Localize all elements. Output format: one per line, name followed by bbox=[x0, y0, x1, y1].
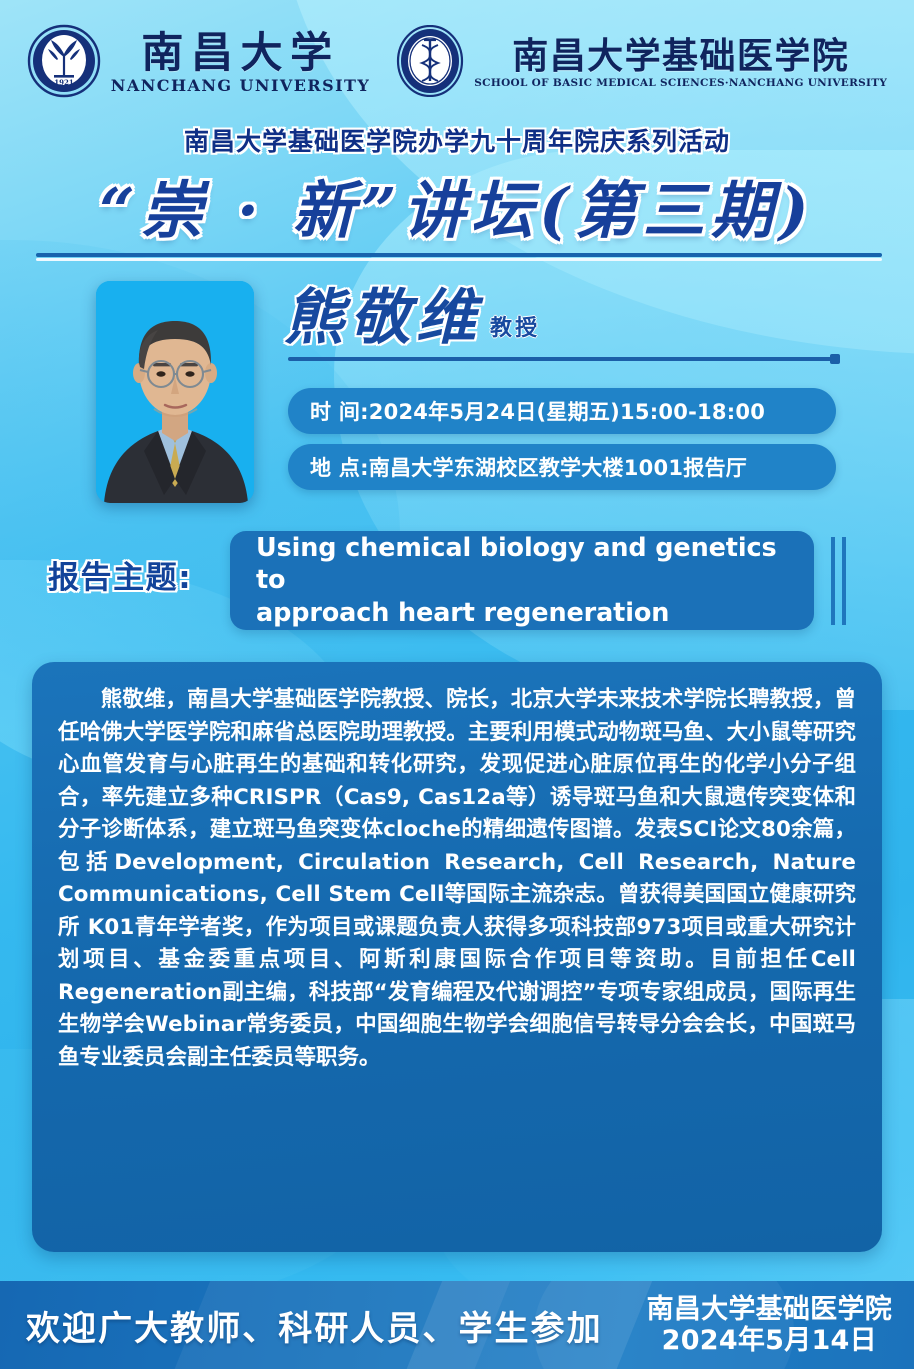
speaker-rank: 教授 bbox=[490, 310, 540, 348]
nanchang-university-seal-icon: 1921 bbox=[27, 24, 101, 102]
logo-en-school: SCHOOL OF BASIC MEDICAL SCIENCES·NANCHAN… bbox=[474, 78, 887, 89]
topic-accent-bar-2 bbox=[842, 537, 846, 625]
poster-root: 1921 南昌大学 NANCHANG UNIVERSITY bbox=[0, 0, 914, 1369]
topic-line-1: Using chemical biology and genetics to bbox=[256, 532, 788, 596]
footer-welcome-text: 欢迎广大教师、科研人员、学生参加 bbox=[26, 1301, 603, 1350]
event-time-text: 时 间:2024年5月24日(星期五)15:00-18:00 bbox=[288, 396, 765, 426]
header-divider bbox=[36, 253, 882, 261]
logo-en-nanchang: NANCHANG UNIVERSITY bbox=[111, 78, 371, 94]
logo-nanchang-university: 1921 南昌大学 NANCHANG UNIVERSITY bbox=[27, 24, 371, 102]
footer-publish-date: 2024年5月14日 bbox=[647, 1325, 892, 1356]
speaker-name-block: 熊敬维 教授 bbox=[284, 288, 540, 348]
logo-cn-nanchang: 南昌大学 bbox=[141, 32, 339, 74]
school-wordmark: 南昌大学基础医学院 SCHOOL OF BASIC MEDICAL SCIENC… bbox=[474, 38, 887, 89]
logo-cn-school: 南昌大学基础医学院 bbox=[512, 38, 849, 74]
footer-organizer-name: 南昌大学基础医学院 bbox=[647, 1294, 892, 1325]
poster-header: 1921 南昌大学 NANCHANG UNIVERSITY bbox=[0, 0, 914, 240]
poster-footer: 欢迎广大教师、科研人员、学生参加 南昌大学基础医学院 2024年5月14日 bbox=[0, 1281, 914, 1369]
topic-accent-bars bbox=[831, 537, 853, 625]
event-time-bar: 时 间:2024年5月24日(星期五)15:00-18:00 bbox=[288, 388, 836, 434]
topic-accent-bar-1 bbox=[831, 537, 835, 625]
logo-school-basic-medical: 南昌大学基础医学院 SCHOOL OF BASIC MEDICAL SCIENC… bbox=[396, 25, 887, 101]
topic-label: 报告主题: bbox=[48, 552, 192, 597]
speaker-name-rule-cap bbox=[830, 354, 840, 364]
footer-organizer-block: 南昌大学基础医学院 2024年5月14日 bbox=[647, 1294, 892, 1357]
topic-box: Using chemical biology and genetics to a… bbox=[230, 531, 814, 630]
speaker-name-rule bbox=[288, 357, 836, 361]
forum-title: “崇 · 新”讲坛(第三期) bbox=[0, 160, 914, 250]
svg-text:1921: 1921 bbox=[54, 78, 74, 87]
divider-line-light bbox=[36, 258, 882, 261]
school-of-basic-medical-sciences-seal-icon bbox=[396, 25, 464, 101]
divider-line-dark bbox=[36, 253, 882, 257]
logo-row: 1921 南昌大学 NANCHANG UNIVERSITY bbox=[0, 18, 914, 108]
speaker-bio-text: 熊敬维，南昌大学基础医学院教授、院长，北京大学未来技术学院长聘教授，曾任哈佛大学… bbox=[58, 684, 856, 1074]
event-place-bar: 地 点:南昌大学东湖校区教学大楼1001报告厅 bbox=[288, 444, 836, 490]
speaker-name: 熊敬维 bbox=[284, 288, 482, 348]
speaker-bio-panel: 熊敬维，南昌大学基础医学院教授、院长，北京大学未来技术学院长聘教授，曾任哈佛大学… bbox=[32, 662, 882, 1252]
nanchang-university-wordmark: 南昌大学 NANCHANG UNIVERSITY bbox=[111, 32, 371, 94]
speaker-portrait bbox=[96, 281, 254, 503]
event-series-label: 南昌大学基础医学院办学九十周年院庆系列活动 bbox=[0, 122, 914, 158]
topic-line-2: approach heart regeneration bbox=[256, 597, 788, 629]
event-place-text: 地 点:南昌大学东湖校区教学大楼1001报告厅 bbox=[288, 452, 747, 482]
